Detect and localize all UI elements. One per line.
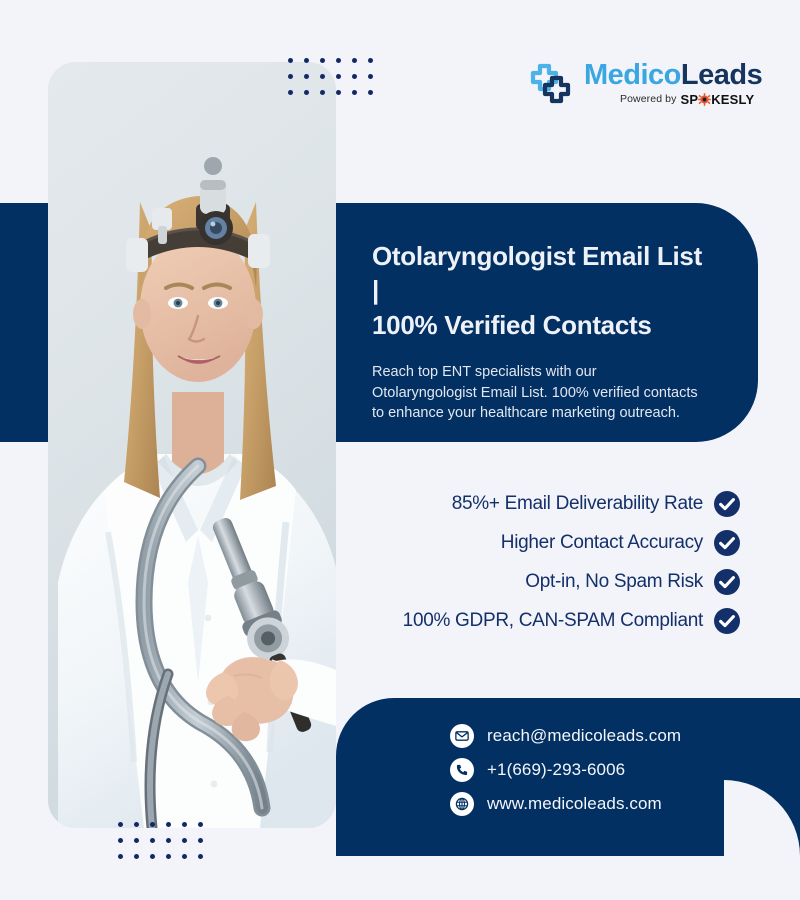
- contact-email-value: reach@medicoleads.com: [487, 726, 681, 746]
- feature-item: Higher Contact Accuracy: [360, 529, 740, 556]
- check-circle-icon: [714, 608, 740, 634]
- dot: [336, 58, 341, 63]
- feature-label: 85%+ Email Deliverability Rate: [452, 493, 703, 515]
- dot: [288, 74, 293, 79]
- dot: [368, 90, 373, 95]
- dot: [352, 74, 357, 79]
- subcopy-text: Reach top ENT specialists with our Otola…: [372, 362, 702, 424]
- dot: [118, 838, 123, 843]
- check-circle-icon: [714, 491, 740, 517]
- brand-logo-text: MedicoLeads Powered by SP: [584, 61, 762, 107]
- check-circle-icon: [714, 530, 740, 556]
- dot: [134, 822, 139, 827]
- feature-label: 100% GDPR, CAN-SPAM Compliant: [403, 610, 703, 632]
- dot: [134, 854, 139, 859]
- hero-photo: [48, 62, 336, 828]
- dot: [118, 822, 123, 827]
- headline-line-1: Otolaryngologist Email List |: [372, 241, 702, 305]
- headline-panel: Otolaryngologist Email List | 100% Verif…: [336, 203, 758, 442]
- dot: [198, 822, 203, 827]
- medico-cross-logo-icon: [528, 62, 574, 106]
- dot: [336, 74, 341, 79]
- dot: [198, 838, 203, 843]
- feature-list: 85%+ Email Deliverability Rate Higher Co…: [360, 490, 740, 646]
- contact-email-row[interactable]: reach@medicoleads.com: [450, 724, 800, 748]
- dot: [198, 854, 203, 859]
- dot: [166, 838, 171, 843]
- brand-name-part-1: Medico: [584, 59, 681, 91]
- dot: [304, 90, 309, 95]
- globe-icon: [450, 792, 474, 816]
- dot: [166, 854, 171, 859]
- dot: [182, 838, 187, 843]
- dot: [288, 90, 293, 95]
- partner-name-prefix: SP: [680, 92, 698, 107]
- dot: [320, 74, 325, 79]
- powered-by-row: Powered by SP: [584, 92, 754, 107]
- gear-icon: [698, 93, 711, 106]
- doctor-illustration: [48, 62, 336, 828]
- decorative-dot-grid-bottom: [118, 822, 214, 870]
- feature-label: Higher Contact Accuracy: [501, 532, 703, 554]
- dot: [118, 854, 123, 859]
- envelope-icon: [450, 724, 474, 748]
- dot: [182, 822, 187, 827]
- contact-bar: reach@medicoleads.com +1(669)-293-6006 w…: [336, 698, 800, 856]
- dot: [304, 74, 309, 79]
- dot: [368, 74, 373, 79]
- feature-item: 100% GDPR, CAN-SPAM Compliant: [360, 607, 740, 634]
- dot: [352, 90, 357, 95]
- dot: [336, 90, 341, 95]
- dot: [288, 58, 293, 63]
- powered-by-label: Powered by: [620, 93, 676, 105]
- feature-label: Opt-in, No Spam Risk: [525, 571, 703, 593]
- dot: [304, 58, 309, 63]
- dot: [182, 854, 187, 859]
- feature-item: Opt-in, No Spam Risk: [360, 568, 740, 595]
- dot: [134, 838, 139, 843]
- partner-name-suffix: KESLY: [711, 92, 754, 107]
- contact-phone-row[interactable]: +1(669)-293-6006: [450, 758, 800, 782]
- decorative-dot-grid-top: [288, 58, 384, 106]
- feature-item: 85%+ Email Deliverability Rate: [360, 490, 740, 517]
- dot: [150, 838, 155, 843]
- dot: [320, 90, 325, 95]
- page-title: Otolaryngologist Email List | 100% Verif…: [372, 239, 712, 342]
- dot: [150, 822, 155, 827]
- dot: [166, 822, 171, 827]
- brand-logo[interactable]: MedicoLeads Powered by SP: [528, 58, 752, 110]
- partner-name: SP: [680, 92, 754, 107]
- contact-website-value: www.medicoleads.com: [487, 794, 662, 814]
- phone-icon: [450, 758, 474, 782]
- poster-canvas: MedicoLeads Powered by SP: [0, 0, 800, 900]
- dot: [352, 58, 357, 63]
- check-circle-icon: [714, 569, 740, 595]
- dot: [320, 58, 325, 63]
- brand-name-part-2: Leads: [681, 59, 762, 91]
- dot: [368, 58, 373, 63]
- brand-name: MedicoLeads: [584, 61, 762, 91]
- contact-phone-value: +1(669)-293-6006: [487, 760, 625, 780]
- headline-line-2: 100% Verified Contacts: [372, 310, 652, 340]
- dot: [150, 854, 155, 859]
